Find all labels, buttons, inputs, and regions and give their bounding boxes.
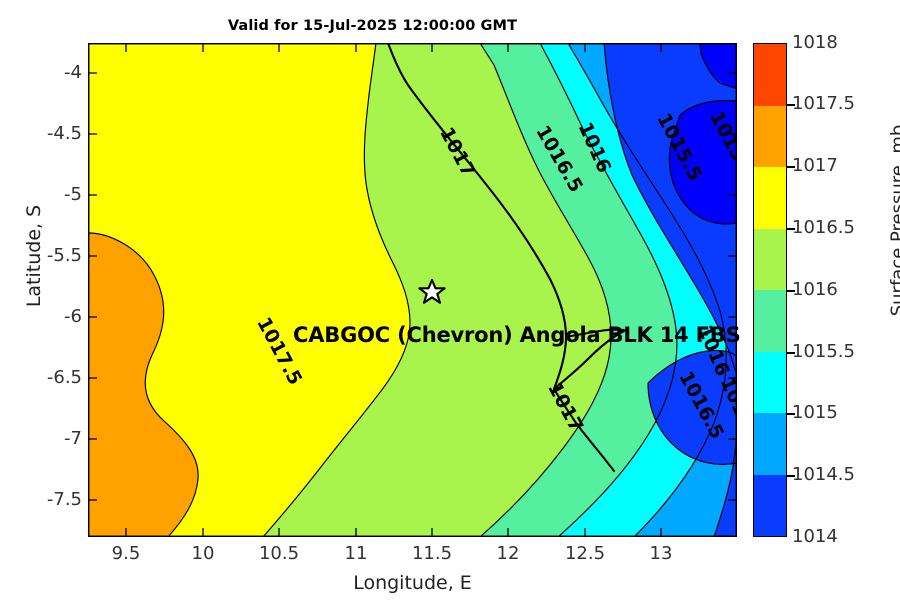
colorbar-tick: 1017.5	[792, 95, 855, 113]
colorbar-title: Surface Pressure, mb	[888, 101, 900, 341]
x-tick: 11.5	[392, 545, 472, 563]
y-axis-label: Latitude, S	[23, 126, 45, 386]
colorbar-band	[754, 475, 786, 537]
colorbar-band	[754, 413, 786, 475]
contour-plot-svg: 10171016.510161015.5101510151017.5101710…	[88, 43, 737, 537]
colorbar-tick: 1017	[792, 157, 838, 175]
colorbar-tick: 1018	[792, 34, 838, 52]
y-tick: -7	[24, 430, 82, 448]
colorbar-tick: 1015.5	[792, 343, 855, 361]
contour-fill-bands	[88, 43, 737, 537]
pressure-contour-map: Valid for 15-Jul-2025 12:00:00 GMT	[0, 0, 900, 600]
x-tick: 9.5	[86, 545, 166, 563]
x-tick-labels: 9.5 10 10.5 11 11.5 12 12.5 13	[88, 545, 737, 571]
x-tick: 10	[163, 545, 243, 563]
colorbar-tick-labels: 1018 1017.5 1017 1016.5 1016 1015.5 1015…	[792, 43, 892, 537]
colorbar-tick: 1014.5	[792, 466, 855, 484]
station-label: CABGOC (Chevron) Angola BLK 14 FBS	[293, 323, 741, 347]
colorbar	[753, 43, 787, 537]
x-tick: 12	[468, 545, 548, 563]
colorbar-tick: 1016	[792, 281, 838, 299]
plot-area: 10171016.510161015.5101510151017.5101710…	[88, 43, 737, 537]
y-tick: -7.5	[24, 491, 82, 509]
x-tick: 10.5	[239, 545, 319, 563]
colorbar-band	[754, 106, 786, 168]
colorbar-band	[754, 229, 786, 291]
colorbar-band	[754, 352, 786, 414]
colorbar-tick: 1015	[792, 404, 838, 422]
x-tick: 11	[316, 545, 396, 563]
chart-title: Valid for 15-Jul-2025 12:00:00 GMT	[0, 18, 745, 34]
x-axis-label: Longitude, E	[88, 572, 737, 594]
colorbar-tick: 1014	[792, 528, 838, 546]
y-tick: -4	[24, 64, 82, 82]
colorbar-tick: 1016.5	[792, 219, 855, 237]
colorbar-band	[754, 44, 786, 106]
colorbar-band	[754, 290, 786, 352]
x-tick: 12.5	[545, 545, 625, 563]
colorbar-band	[754, 167, 786, 229]
x-tick: 13	[621, 545, 701, 563]
